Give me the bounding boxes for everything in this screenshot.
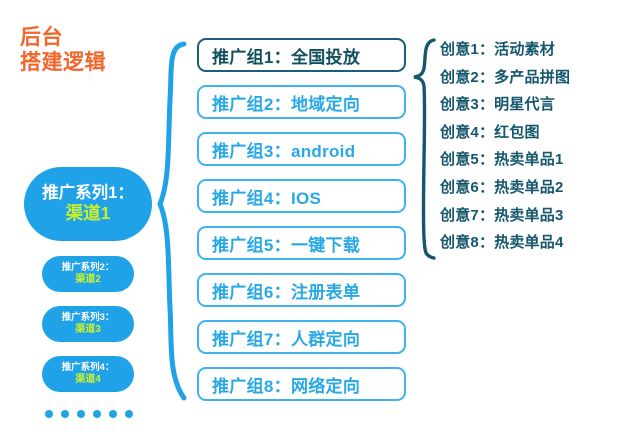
ellipsis-dots (45, 410, 133, 418)
group-box-label: 推广组2：地域定向 (212, 90, 360, 115)
series-oval-4[interactable]: 推广系列4： 渠道4 (42, 356, 134, 392)
creative-item-6[interactable]: 创意6：热卖单品2 (440, 174, 630, 202)
left-brace-path (160, 44, 184, 398)
series-4-sub-label: 渠道4 (75, 374, 101, 386)
group-box-1[interactable]: 推广组1：全国投放 (197, 38, 406, 72)
page-title: 后台 搭建逻辑 (20, 26, 106, 76)
series-2-main-label: 推广系列2： (62, 262, 115, 274)
creative-item-8[interactable]: 创意8：热卖单品4 (440, 229, 630, 257)
ellipsis-dot (93, 410, 101, 418)
diagram-canvas: 后台 搭建逻辑 推广系列1： 渠道1 推广系列2： 渠道2 推广系列3： 渠道3… (0, 0, 639, 443)
group-box-6[interactable]: 推广组6：注册表单 (197, 273, 406, 307)
creative-item-3[interactable]: 创意3：明星代言 (440, 91, 630, 119)
title-line-1: 后台 (20, 26, 106, 51)
ellipsis-dot (77, 410, 85, 418)
creative-item-7[interactable]: 创意7：热卖单品3 (440, 202, 630, 230)
right-brace-path (414, 40, 434, 258)
series-oval-1[interactable]: 推广系列1： 渠道1 (24, 167, 152, 241)
title-line-2: 搭建逻辑 (20, 51, 106, 76)
creative-item-4[interactable]: 创意4：红包图 (440, 119, 630, 147)
series-1-main-label: 推广系列1： (42, 183, 134, 203)
series-oval-3[interactable]: 推广系列3： 渠道3 (42, 306, 134, 342)
group-box-8[interactable]: 推广组8：网络定向 (197, 367, 406, 401)
group-box-label: 推广组1：全国投放 (212, 43, 360, 68)
series-1-sub-label: 渠道1 (66, 203, 111, 224)
ellipsis-dot (109, 410, 117, 418)
series-3-main-label: 推广系列3： (62, 312, 115, 324)
series-oval-2[interactable]: 推广系列2： 渠道2 (42, 256, 134, 292)
ellipsis-dot (125, 410, 133, 418)
group-box-7[interactable]: 推广组7：人群定向 (197, 320, 406, 354)
group-box-label: 推广组7：人群定向 (212, 325, 360, 350)
creative-item-2[interactable]: 创意2：多产品拼图 (440, 64, 630, 92)
group-box-3[interactable]: 推广组3：android (197, 132, 406, 166)
ellipsis-dot (61, 410, 69, 418)
ellipsis-dot (45, 410, 53, 418)
creative-item-1[interactable]: 创意1：活动素材 (440, 36, 630, 64)
group-box-label: 推广组3：android (212, 137, 355, 162)
group-box-label: 推广组8：网络定向 (212, 372, 360, 397)
group-box-4[interactable]: 推广组4：IOS (197, 179, 406, 213)
creative-list: 创意1：活动素材创意2：多产品拼图创意3：明星代言创意4：红包图创意5：热卖单品… (440, 36, 630, 257)
creative-item-5[interactable]: 创意5：热卖单品1 (440, 146, 630, 174)
series-2-sub-label: 渠道2 (75, 274, 101, 286)
group-box-5[interactable]: 推广组5：一键下载 (197, 226, 406, 260)
series-3-sub-label: 渠道3 (75, 324, 101, 336)
series-4-main-label: 推广系列4： (62, 362, 115, 374)
group-box-label: 推广组5：一键下载 (212, 231, 360, 256)
group-box-label: 推广组4：IOS (212, 184, 321, 209)
group-box-label: 推广组6：注册表单 (212, 278, 360, 303)
group-box-2[interactable]: 推广组2：地域定向 (197, 85, 406, 119)
